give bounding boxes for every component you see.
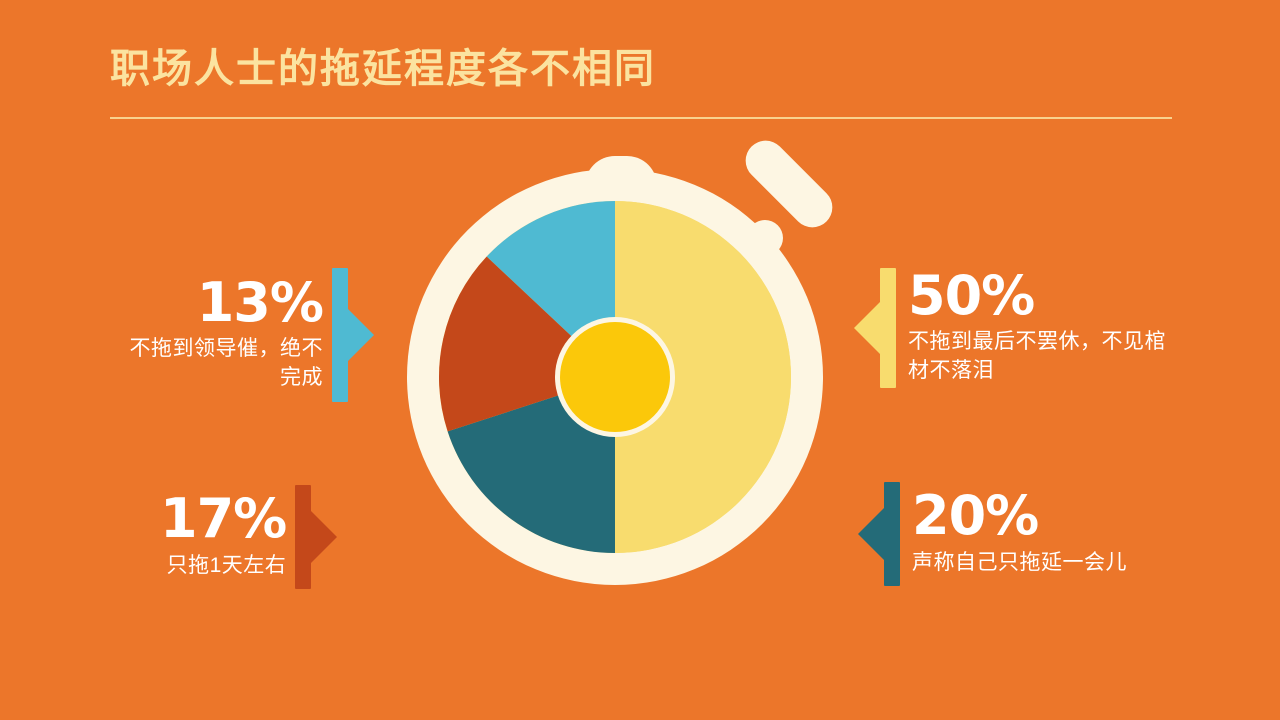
stopwatch-icon — [400, 150, 840, 610]
callout-13-arrow-icon — [348, 309, 374, 361]
callout-50-bar — [880, 268, 896, 388]
callout-50-marker — [880, 268, 896, 388]
callout-50-text: 50% 不拖到最后不罢休，不见棺材不落泪 — [896, 270, 1176, 387]
callout-17-bar — [295, 485, 311, 589]
callout-20-percent: 20% — [912, 490, 1038, 543]
header: 职场人士的拖延程度各不相同 — [110, 44, 1172, 94]
watch-hub — [560, 322, 670, 432]
callout-13: 13% 不拖到领导催，绝不完成 — [120, 268, 348, 402]
callout-13-percent: 13% — [197, 277, 323, 330]
page-title: 职场人士的拖延程度各不相同 — [110, 44, 1172, 94]
callout-13-description: 不拖到领导催，绝不完成 — [120, 335, 323, 393]
callout-17: 17% 只拖1天左右 — [160, 485, 348, 589]
callout-50-description: 不拖到最后不罢休，不见棺材不落泪 — [908, 328, 1176, 386]
callout-13-marker — [332, 268, 348, 402]
callout-20-description: 声称自己只拖延一会儿 — [912, 549, 1127, 578]
callout-50-percent: 50% — [908, 270, 1034, 323]
callout-17-text: 17% 只拖1天左右 — [160, 493, 295, 581]
callout-20: 20% 声称自己只拖延一会儿 — [884, 482, 1184, 586]
callout-20-bar — [884, 482, 900, 586]
callout-20-marker — [884, 482, 900, 586]
callout-50-arrow-icon — [854, 302, 880, 354]
callout-50: 50% 不拖到最后不罢休，不见棺材不落泪 — [880, 268, 1190, 388]
callout-13-bar — [332, 268, 348, 402]
callout-17-marker — [295, 485, 311, 589]
slide-root: 职场人士的拖延程度各不相同 — [0, 0, 1280, 720]
title-divider — [110, 117, 1172, 119]
callout-17-description: 只拖1天左右 — [167, 552, 287, 581]
callout-20-arrow-icon — [858, 508, 884, 560]
callout-17-arrow-icon — [311, 511, 337, 563]
callout-13-text: 13% 不拖到领导催，绝不完成 — [120, 277, 332, 394]
callout-20-text: 20% 声称自己只拖延一会儿 — [900, 490, 1127, 578]
callout-17-percent: 17% — [160, 493, 286, 546]
